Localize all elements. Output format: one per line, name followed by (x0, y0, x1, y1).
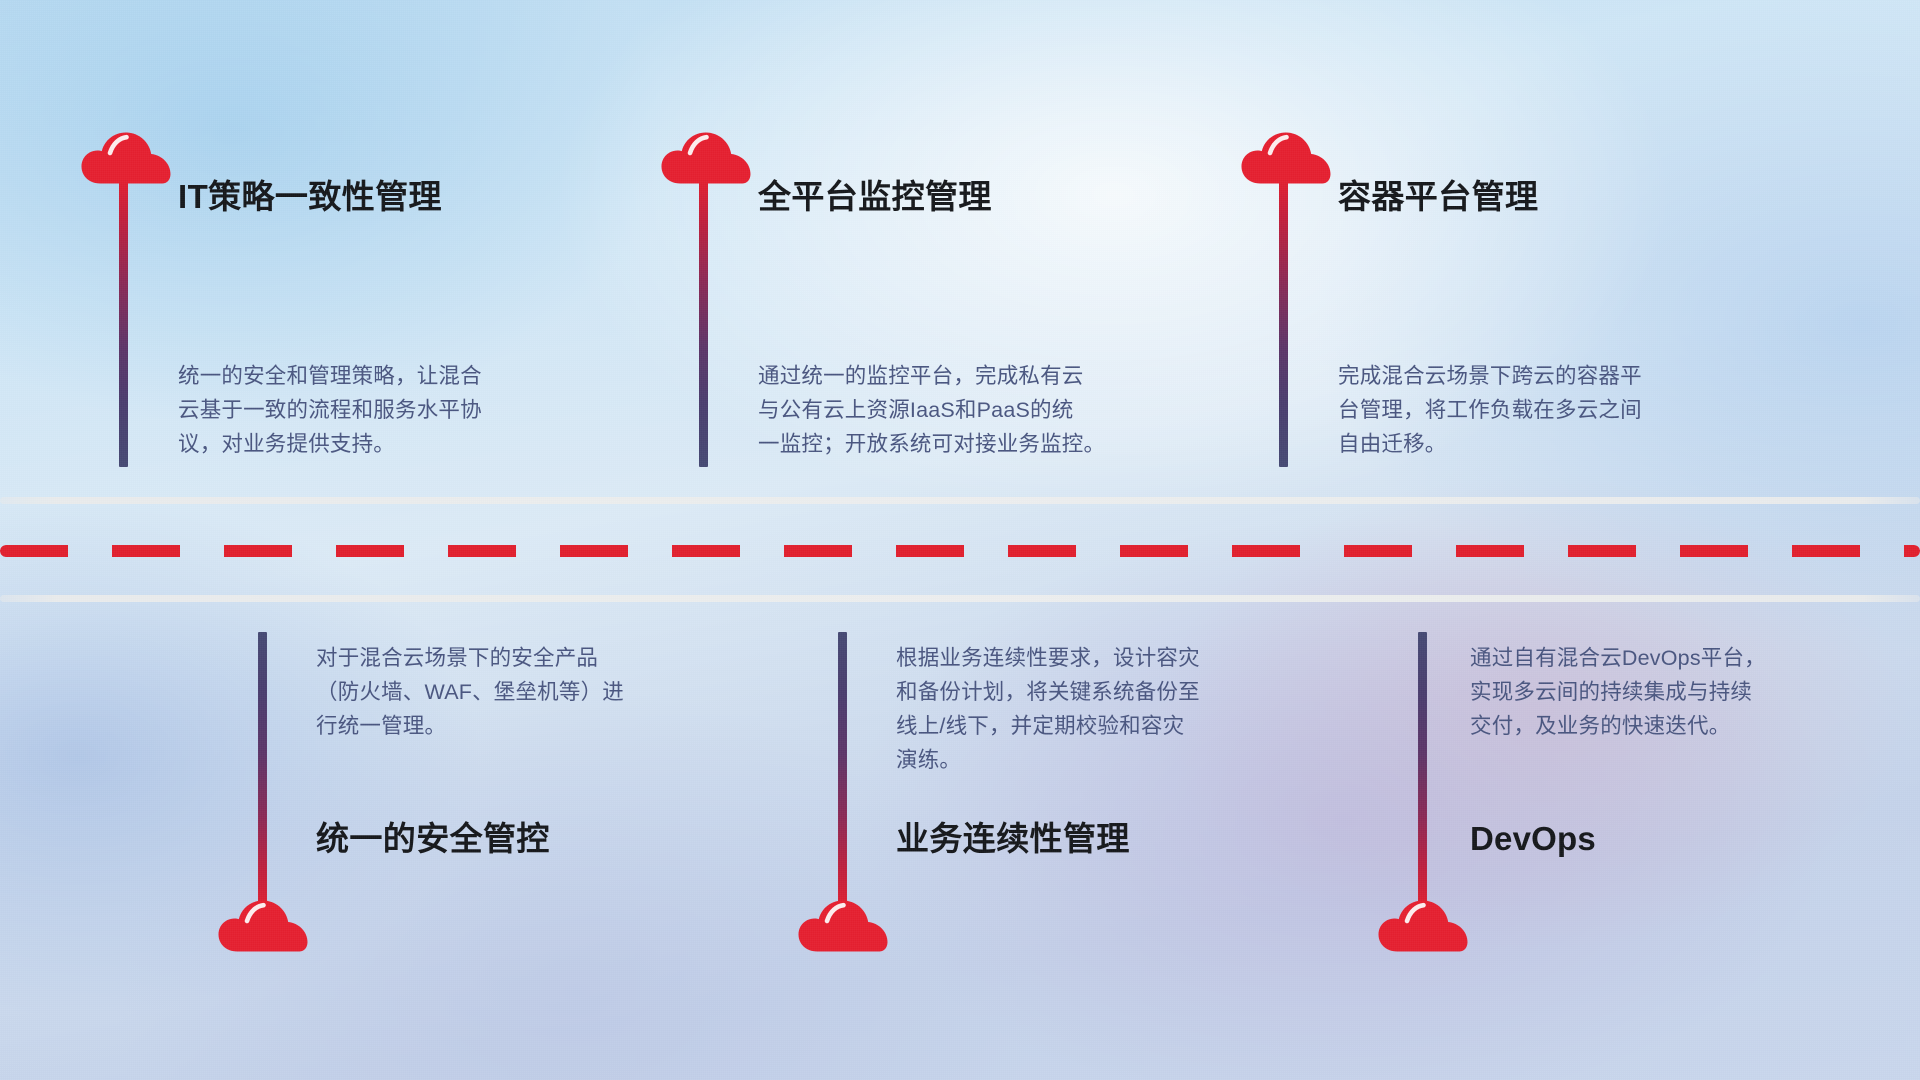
road-line-bottom (0, 595, 1920, 602)
card-title: 业务连续性管理 (896, 822, 1130, 855)
connector-stem (258, 632, 267, 910)
cloud-icon (797, 900, 889, 957)
card-body: 统一的安全和管理策略，让混合 云基于一致的流程和服务水平协 议，对业务提供支持。 (178, 359, 608, 461)
card-title: DevOps (1470, 822, 1596, 855)
card-title: 全平台监控管理 (758, 180, 992, 213)
road-line-top (0, 497, 1920, 504)
connector-stem (1418, 632, 1427, 910)
card-body: 完成混合云场景下跨云的容器平 台管理，将工作负载在多云之间 自由迁移。 (1338, 359, 1778, 461)
card-body: 通过自有混合云DevOps平台， 实现多云间的持续集成与持续 交付，及业务的快速… (1470, 641, 1910, 743)
card-title: 容器平台管理 (1338, 180, 1538, 213)
connector-stem (699, 180, 708, 467)
cloud-icon (1377, 900, 1469, 957)
connector-stem (838, 632, 847, 910)
card-body: 通过统一的监控平台，完成私有云 与公有云上资源IaaS和PaaS的统 一监控；开… (758, 359, 1208, 461)
card-body: 对于混合云场景下的安全产品 （防火墙、WAF、堡垒机等）进 行统一管理。 (316, 641, 756, 743)
card-title: 统一的安全管控 (316, 822, 550, 855)
card-body: 根据业务连续性要求，设计容灾 和备份计划，将关键系统备份至 线上/线下，并定期校… (896, 641, 1336, 777)
infographic-canvas: IT策略一致性管理 统一的安全和管理策略，让混合 云基于一致的流程和服务水平协 … (0, 0, 1920, 1080)
road-dashed-center-line (0, 545, 1920, 557)
connector-stem (1279, 180, 1288, 467)
card-title: IT策略一致性管理 (178, 180, 442, 213)
connector-stem (119, 180, 128, 467)
cloud-icon (217, 900, 309, 957)
